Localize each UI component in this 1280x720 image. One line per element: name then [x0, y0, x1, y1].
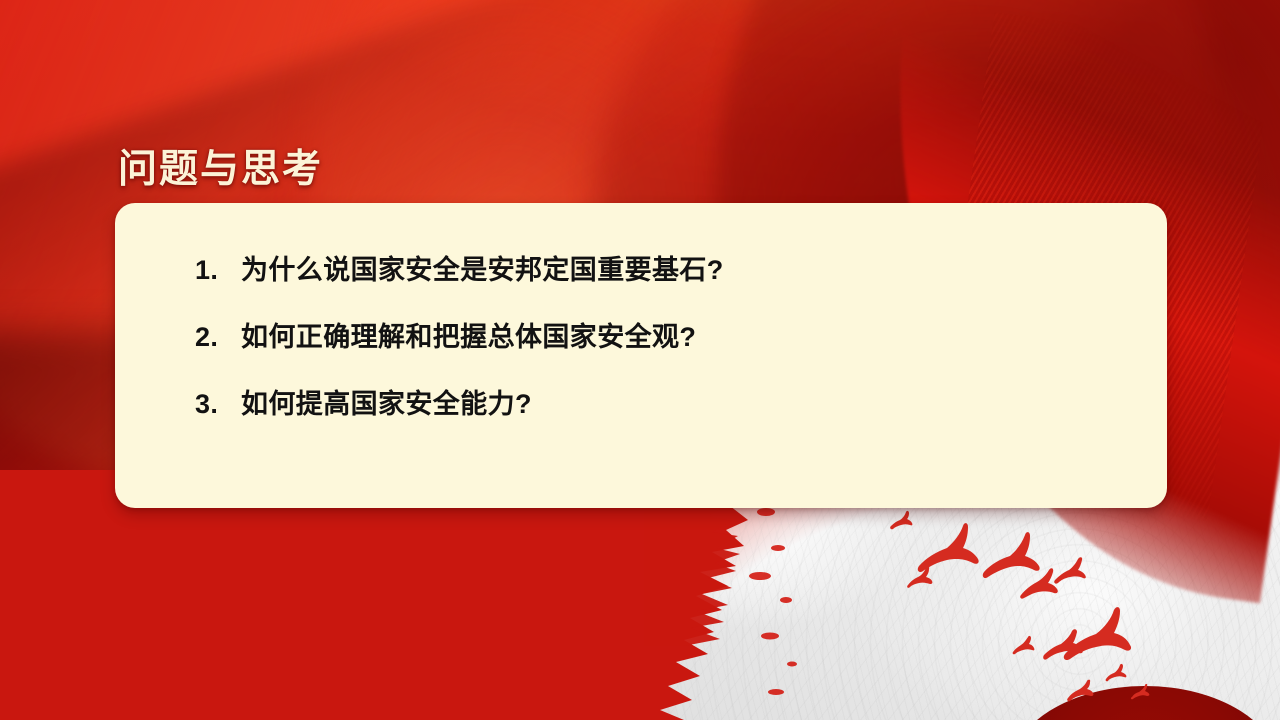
list-item: 1. 为什么说国家安全是安邦定国重要基石? — [195, 248, 1127, 315]
page-title: 问题与思考 — [118, 138, 323, 194]
questions-list: 1. 为什么说国家安全是安邦定国重要基石? 2. 如何正确理解和把握总体国家安全… — [195, 248, 1127, 449]
questions-card: 1. 为什么说国家安全是安邦定国重要基石? 2. 如何正确理解和把握总体国家安全… — [115, 203, 1167, 508]
list-item-text: 为什么说国家安全是安邦定国重要基石? — [241, 248, 724, 287]
list-item-number: 3. — [195, 389, 241, 420]
list-item-text: 如何正确理解和把握总体国家安全观? — [241, 315, 696, 354]
list-item: 2. 如何正确理解和把握总体国家安全观? — [195, 315, 1127, 382]
list-item-text: 如何提高国家安全能力? — [241, 382, 532, 421]
list-item-number: 2. — [195, 322, 241, 353]
list-item-number: 1. — [195, 255, 241, 286]
slide-canvas: 问题与思考 1. 为什么说国家安全是安邦定国重要基石? 2. 如何正确理解和把握… — [0, 0, 1280, 720]
list-item: 3. 如何提高国家安全能力? — [195, 382, 1127, 449]
